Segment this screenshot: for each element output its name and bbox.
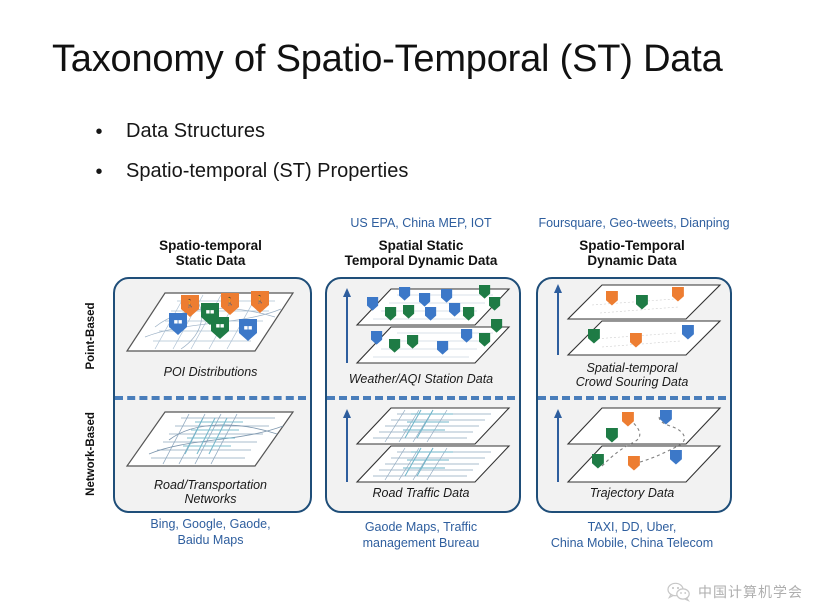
column-heading-2-line2: Dynamic Data [536, 253, 728, 268]
time-axis-arrow [554, 284, 562, 355]
watermark-label: 中国计算机学会 [698, 582, 803, 602]
column-heading-2: Spatio-Temporal Dynamic Data [536, 238, 728, 268]
svg-text:🚶: 🚶 [255, 294, 265, 304]
svg-text:■■: ■■ [174, 319, 182, 326]
road-traffic-layers-graphic [333, 404, 513, 486]
watermark: 中国计算机学会 [667, 582, 803, 602]
column-heading-0: Spatio-temporal Static Data [113, 238, 308, 268]
cell-weather-aqi-station-data[interactable]: Weather/AQI Station Data [325, 277, 517, 396]
crowd-sourcing-layers-graphic [544, 281, 724, 361]
time-axis-arrow [343, 409, 351, 482]
cell-caption-poi: POI Distributions [113, 365, 308, 379]
cell-caption-trajectory: Trajectory Data [536, 486, 728, 500]
cell-caption-road-networks: Road/Transportation Networks [113, 478, 308, 506]
cell-caption-weather-aqi: Weather/AQI Station Data [325, 372, 517, 386]
column-source-top-1: US EPA, China MEP, IOT [325, 216, 517, 230]
column-source-bottom-0: Bing, Google, Gaode, Baidu Maps [113, 516, 308, 548]
column-heading-1-line2: Temporal Dynamic Data [325, 253, 517, 268]
column-heading-1-line1: Spatial Static [325, 238, 517, 253]
column-heading-1: Spatial Static Temporal Dynamic Data [325, 238, 517, 268]
bullet-marker-icon: • [92, 162, 106, 182]
svg-text:🚶: 🚶 [225, 296, 235, 306]
poi-map-graphic: 🚶 🚶 🚶 ■■ ■■ ■■ ■■ [125, 287, 297, 359]
row-label-network-based: Network-Based [85, 402, 97, 506]
trajectory-layers-graphic [544, 404, 724, 486]
cell-crowd-sourcing-data[interactable]: Spatial-temporal Crowd Souring Data [536, 277, 728, 396]
bullet-label-0: Data Structures [126, 120, 265, 143]
station-layers-graphic [333, 283, 513, 369]
cell-road-traffic-data[interactable]: Road Traffic Data [325, 398, 517, 509]
page-title: Taxonomy of Spatio-Temporal (ST) Data [52, 38, 792, 81]
cell-caption-road-traffic: Road Traffic Data [325, 486, 517, 500]
column-source-bottom-1: Gaode Maps, Traffic management Bureau [325, 519, 517, 551]
bullet-label-1: Spatio-temporal (ST) Properties [126, 160, 408, 183]
wechat-icon [667, 582, 691, 602]
time-axis-arrow [343, 288, 351, 363]
row-label-point-based: Point-Based [85, 291, 97, 381]
column-heading-2-line1: Spatio-Temporal [536, 238, 728, 253]
cell-poi-distributions[interactable]: 🚶 🚶 🚶 ■■ ■■ ■■ ■■ POI Distributions [113, 277, 308, 396]
column-heading-0-line2: Static Data [113, 253, 308, 268]
svg-text:■■: ■■ [216, 323, 224, 330]
bullet-marker-icon: • [92, 122, 106, 142]
cell-trajectory-data[interactable]: Trajectory Data [536, 398, 728, 509]
svg-text:🚶: 🚶 [185, 298, 195, 308]
time-axis-arrow [554, 409, 562, 482]
road-network-graphic [125, 408, 297, 472]
slide-canvas: Taxonomy of Spatio-Temporal (ST) Data • … [0, 0, 817, 616]
svg-text:■■: ■■ [206, 309, 214, 316]
column-source-bottom-2: TAXI, DD, Uber, China Mobile, China Tele… [519, 519, 745, 551]
cell-road-transportation-networks[interactable]: Road/Transportation Networks [113, 398, 308, 509]
svg-text:■■: ■■ [244, 325, 252, 332]
cell-caption-crowd-sourcing: Spatial-temporal Crowd Souring Data [536, 361, 728, 389]
column-heading-0-line1: Spatio-temporal [113, 238, 308, 253]
column-source-top-2: Foursquare, Geo-tweets, Dianping [520, 216, 748, 230]
